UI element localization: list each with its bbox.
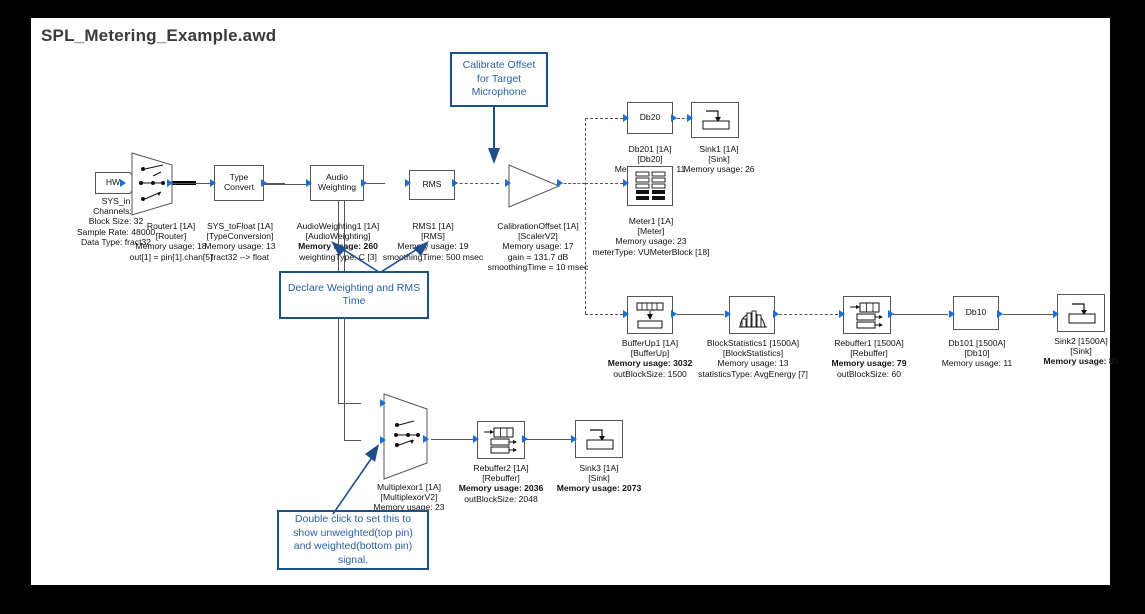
port-blockstatistics1-out [773,310,779,318]
arrow-note-multiplexor [321,436,401,518]
block-db201[interactable]: Db20 [627,102,673,134]
wire-fanout-to-bufferup [585,314,623,315]
port-bufferup1-in [623,310,629,318]
wire-fanout-to-db20 [585,118,623,119]
block-rms1-inner-label: RMS [422,180,441,190]
block-bufferup1[interactable] [627,296,673,334]
note-multiplexor[interactable]: Double click to set this to show unweigh… [277,510,429,570]
wire-rebuffer2-to-sink3 [526,439,571,440]
diagram-canvas[interactable]: SPL_Metering_Example.awd [31,18,1110,585]
note-weighting[interactable]: Declare Weighting and RMS Time [279,271,429,319]
block-audioweighting1[interactable]: AudioWeighting [310,165,364,201]
port-blockstatistics1-in [725,310,731,318]
port-sink3-in [571,435,577,443]
wire-router-to-typeconvert [172,183,210,184]
port-sink2-in [1053,310,1059,318]
port-calibrationoffset-out [557,179,563,187]
wire-mux-to-rebuffer2 [431,439,473,440]
port-sys-tofloat-in [210,179,216,187]
port-rms1-out [452,179,458,187]
block-sink3-caption: Sink3 [1A] [Sink] Memory usage: 2073 [551,463,647,494]
port-sys-tofloat-out [261,179,267,187]
port-rebuffer1-in [839,310,845,318]
port-db201-out [671,114,677,122]
port-rebuffer2-in [473,435,479,443]
block-audioweighting1-inner-label: AudioWeighting [318,173,356,192]
block-sink2-caption: Sink2 [1500A] [Sink] Memory usage: 85 [1033,336,1129,367]
block-rebuffer2-caption: Rebuffer2 [1A] [Rebuffer] Memory usage: … [453,463,549,504]
block-meter1-caption: Meter1 [1A] [Meter] Memory usage: 23 met… [587,216,715,257]
port-sink1-in [687,114,693,122]
block-calibrationoffset[interactable] [508,164,562,206]
wire-blockstats-to-rebuffer1 [779,314,838,315]
block-db101-caption: Db101 [1500A] [Db10] Memory usage: 11 [929,338,1025,369]
block-hw[interactable]: HW [95,172,135,192]
port-multiplexor1-in-top [380,399,386,407]
block-rebuffer1-caption: Rebuffer1 [1500A] [Rebuffer] Memory usag… [821,338,917,379]
port-meter1-in [623,179,629,187]
block-sys-tofloat-inner-label: TypeConvert [224,173,254,192]
port-hw-out [120,179,126,187]
port-bufferup1-out [671,310,677,318]
page-title: SPL_Metering_Example.awd [41,26,276,46]
block-blockstatistics1[interactable] [729,296,775,334]
port-rebuffer1-out [888,310,894,318]
port-calibrationoffset-in [505,179,511,187]
wire-bufferup-to-blockstats [677,314,724,315]
arrow-note-weighting [279,236,439,276]
note-calibrate[interactable]: Calibrate Offset for Target Microphone [450,52,548,107]
port-rebuffer2-out [522,435,528,443]
wire-rebuffer1-to-db101 [893,314,948,315]
block-sink3[interactable] [575,420,623,458]
window-root: SPL_Metering_Example.awd [0,0,1145,614]
block-bufferup1-caption: BufferUp1 [1A] [BufferUp] Memory usage: … [601,338,699,379]
block-sink1-caption: Sink1 [1A] [Sink] Memory usage: 26 [679,144,759,175]
block-sys-tofloat[interactable]: TypeConvert [214,165,264,201]
wire-fanout-bus [585,118,586,314]
block-rebuffer1[interactable] [843,296,891,334]
block-rms1[interactable]: RMS [409,170,455,200]
block-sink1[interactable] [691,102,739,138]
port-db201-in [623,114,629,122]
block-db201-inner-label: Db20 [640,113,661,123]
port-audioweighting1-in [306,179,312,187]
block-rebuffer2[interactable] [477,421,525,459]
block-db101[interactable]: Db10 [953,296,999,330]
arrow-note-calibrate [486,106,516,168]
block-sink2[interactable] [1057,294,1105,332]
port-db101-in [949,310,955,318]
port-db101-out [997,310,1003,318]
block-meter1[interactable] [627,166,673,206]
port-multiplexor1-out [423,435,429,443]
wire-branch-unweighted-h [338,403,361,404]
port-router1-out [167,179,173,187]
port-audioweighting1-out [361,179,367,187]
wire-db101-to-sink2 [1003,314,1053,315]
block-sys-tofloat-caption: SYS_toFloat [1A] [TypeConversion] Memory… [191,221,289,262]
wire-fanout-to-meter [585,183,623,184]
block-calibrationoffset-caption: CalibrationOffset [1A] [ScalerV2] Memory… [479,221,597,272]
block-db101-inner-label: Db10 [966,308,987,318]
block-blockstatistics1-caption: BlockStatistics1 [1500A] [BlockStatistic… [693,338,813,379]
port-rms1-in [405,179,411,187]
